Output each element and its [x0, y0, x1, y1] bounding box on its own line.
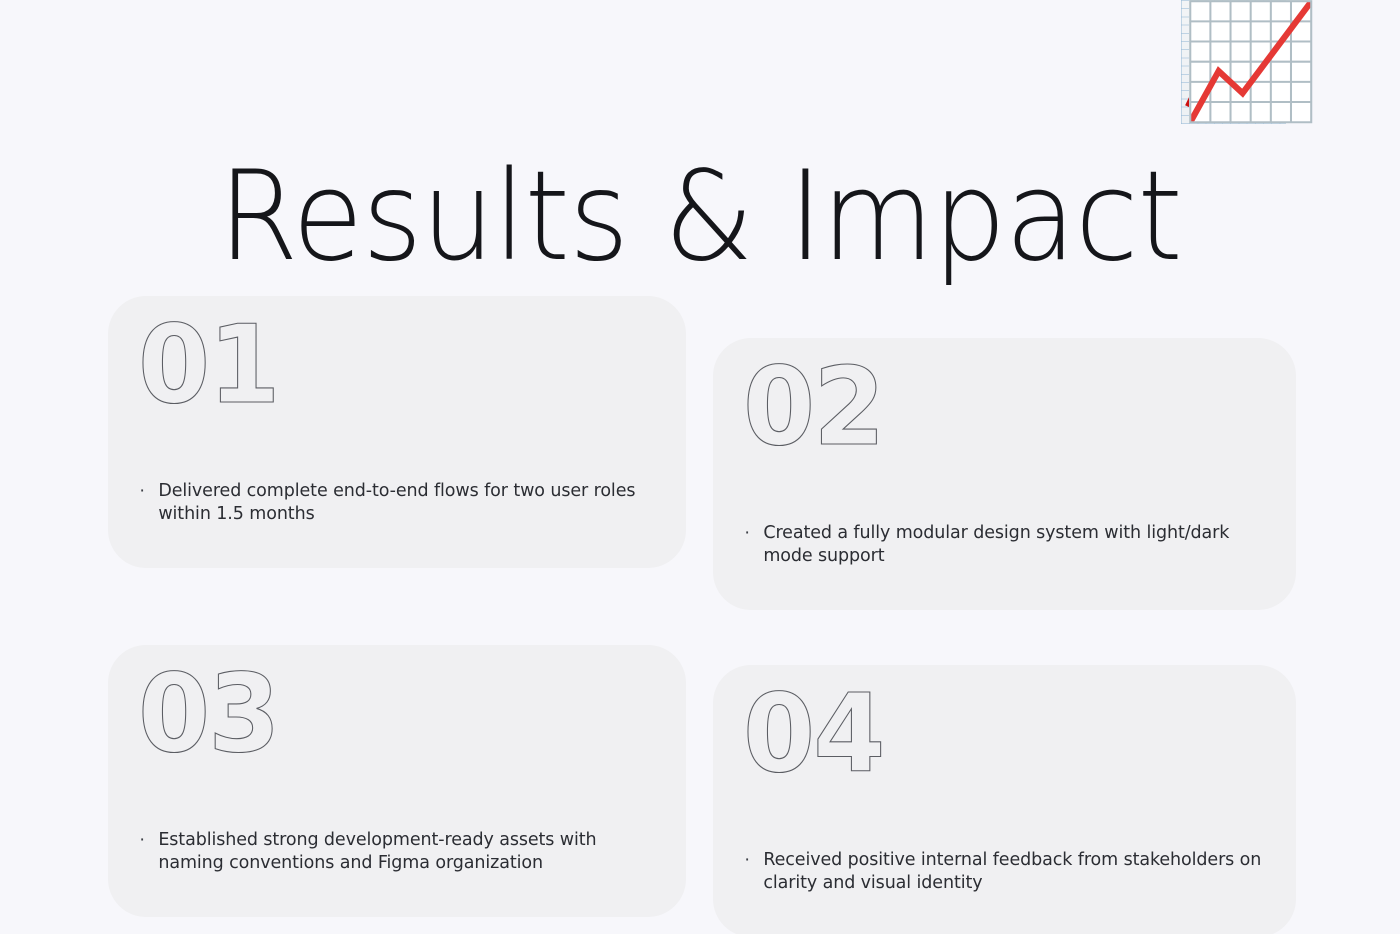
result-card-01: 01 · Delivered complete end-to-end flows… — [108, 296, 686, 568]
card-body-02: · Created a fully modular design system … — [744, 522, 1272, 568]
card-body-04: · Received positive internal feedback fr… — [744, 849, 1272, 895]
card-number-04: 04 — [743, 681, 883, 789]
bullet-icon: · — [139, 479, 145, 502]
card-text-02: Created a fully modular design system wi… — [763, 522, 1272, 568]
chart-increasing-emoji: 📈 — [1181, 0, 1286, 124]
card-number-03: 03 — [138, 661, 278, 769]
card-number-02: 02 — [743, 354, 883, 462]
result-card-03: 03 · Established strong development-read… — [108, 645, 686, 917]
bullet-icon: · — [744, 848, 750, 871]
card-body-01: · Delivered complete end-to-end flows fo… — [139, 480, 662, 526]
card-body-03: · Established strong development-ready a… — [139, 829, 662, 875]
page-title: Results & Impact — [49, 152, 1351, 282]
card-text-04: Received positive internal feedback from… — [763, 849, 1272, 895]
card-text-01: Delivered complete end-to-end flows for … — [158, 480, 658, 526]
result-card-02: 02 · Created a fully modular design syst… — [713, 338, 1296, 610]
result-card-04: 04 · Received positive internal feedback… — [713, 665, 1296, 934]
card-number-01: 01 — [138, 312, 278, 420]
bullet-icon: · — [744, 521, 750, 544]
card-text-03: Established strong development-ready ass… — [158, 829, 658, 875]
bullet-icon: · — [139, 828, 145, 851]
